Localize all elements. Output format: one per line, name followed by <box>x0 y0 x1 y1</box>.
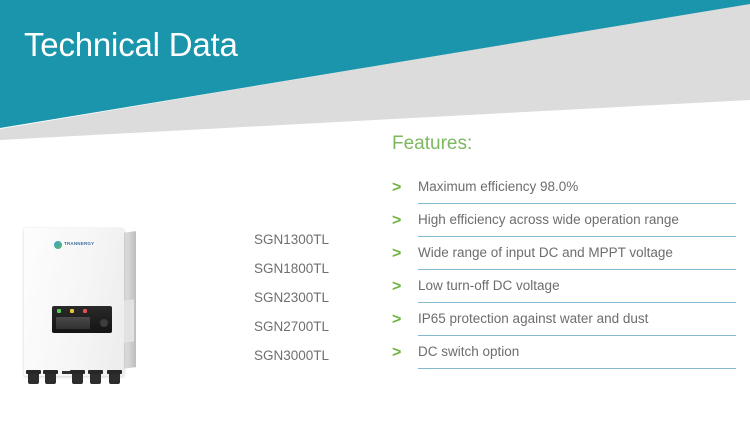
list-item: > IP65 protection against water and dust <box>392 311 736 344</box>
chevron-right-icon: > <box>392 245 418 262</box>
chevron-right-icon: > <box>392 311 418 328</box>
page-title: Technical Data <box>24 26 238 64</box>
status-led-green-icon <box>57 309 61 313</box>
list-item: > Maximum efficiency 98.0% <box>392 179 736 212</box>
inverter-side-label <box>124 299 134 342</box>
inverter-connectors <box>26 370 136 388</box>
inverter-display-panel <box>52 306 112 333</box>
feature-label: Low turn-off DC voltage <box>418 278 560 294</box>
divider <box>418 335 736 336</box>
chevron-right-icon: > <box>392 344 418 361</box>
model-list: SGN1300TL SGN1800TL SGN2300TL SGN2700TL … <box>254 233 374 378</box>
divider <box>418 302 736 303</box>
chevron-right-icon: > <box>392 179 418 196</box>
logo-text: TRANNERGY <box>64 242 94 247</box>
connector <box>90 370 101 384</box>
feature-label: High efficiency across wide operation ra… <box>418 212 679 228</box>
list-item: > High efficiency across wide operation … <box>392 212 736 245</box>
logo-mark-icon <box>54 241 62 249</box>
list-item: SGN2300TL <box>254 291 374 305</box>
brand-logo: TRANNERGY <box>54 240 94 249</box>
product-image-inverter: TRANNERGY <box>18 228 148 388</box>
feature-label: IP65 protection against water and dust <box>418 311 648 327</box>
chevron-right-icon: > <box>392 212 418 229</box>
status-led-group <box>57 309 87 313</box>
feature-label: Wide range of input DC and MPPT voltage <box>418 245 673 261</box>
divider <box>418 203 736 204</box>
inverter-lcd-screen <box>56 317 90 329</box>
list-item: > Low turn-off DC voltage <box>392 278 736 311</box>
list-item: SGN1800TL <box>254 262 374 276</box>
features-heading: Features: <box>392 134 736 153</box>
inverter-button <box>100 319 108 327</box>
divider <box>418 236 736 237</box>
divider <box>418 269 736 270</box>
slide-header <box>0 0 750 140</box>
inverter-body: TRANNERGY <box>24 228 124 376</box>
list-item: > DC switch option <box>392 344 736 377</box>
connector <box>45 370 56 384</box>
list-item: SGN3000TL <box>254 349 374 363</box>
divider <box>418 368 736 369</box>
list-item: > Wide range of input DC and MPPT voltag… <box>392 245 736 278</box>
list-item: SGN2700TL <box>254 320 374 334</box>
slide-technical-data: { "slide": { "title": "Technical Data", … <box>0 0 750 435</box>
connector <box>109 370 120 384</box>
connector <box>28 370 39 384</box>
list-item: SGN1300TL <box>254 233 374 247</box>
status-led-yellow-icon <box>70 309 74 313</box>
connector <box>72 370 83 384</box>
features-panel: Features: > Maximum efficiency 98.0% > H… <box>392 134 736 377</box>
chevron-right-icon: > <box>392 278 418 295</box>
status-led-red-icon <box>83 309 87 313</box>
feature-label: Maximum efficiency 98.0% <box>418 179 578 195</box>
feature-label: DC switch option <box>418 344 519 360</box>
